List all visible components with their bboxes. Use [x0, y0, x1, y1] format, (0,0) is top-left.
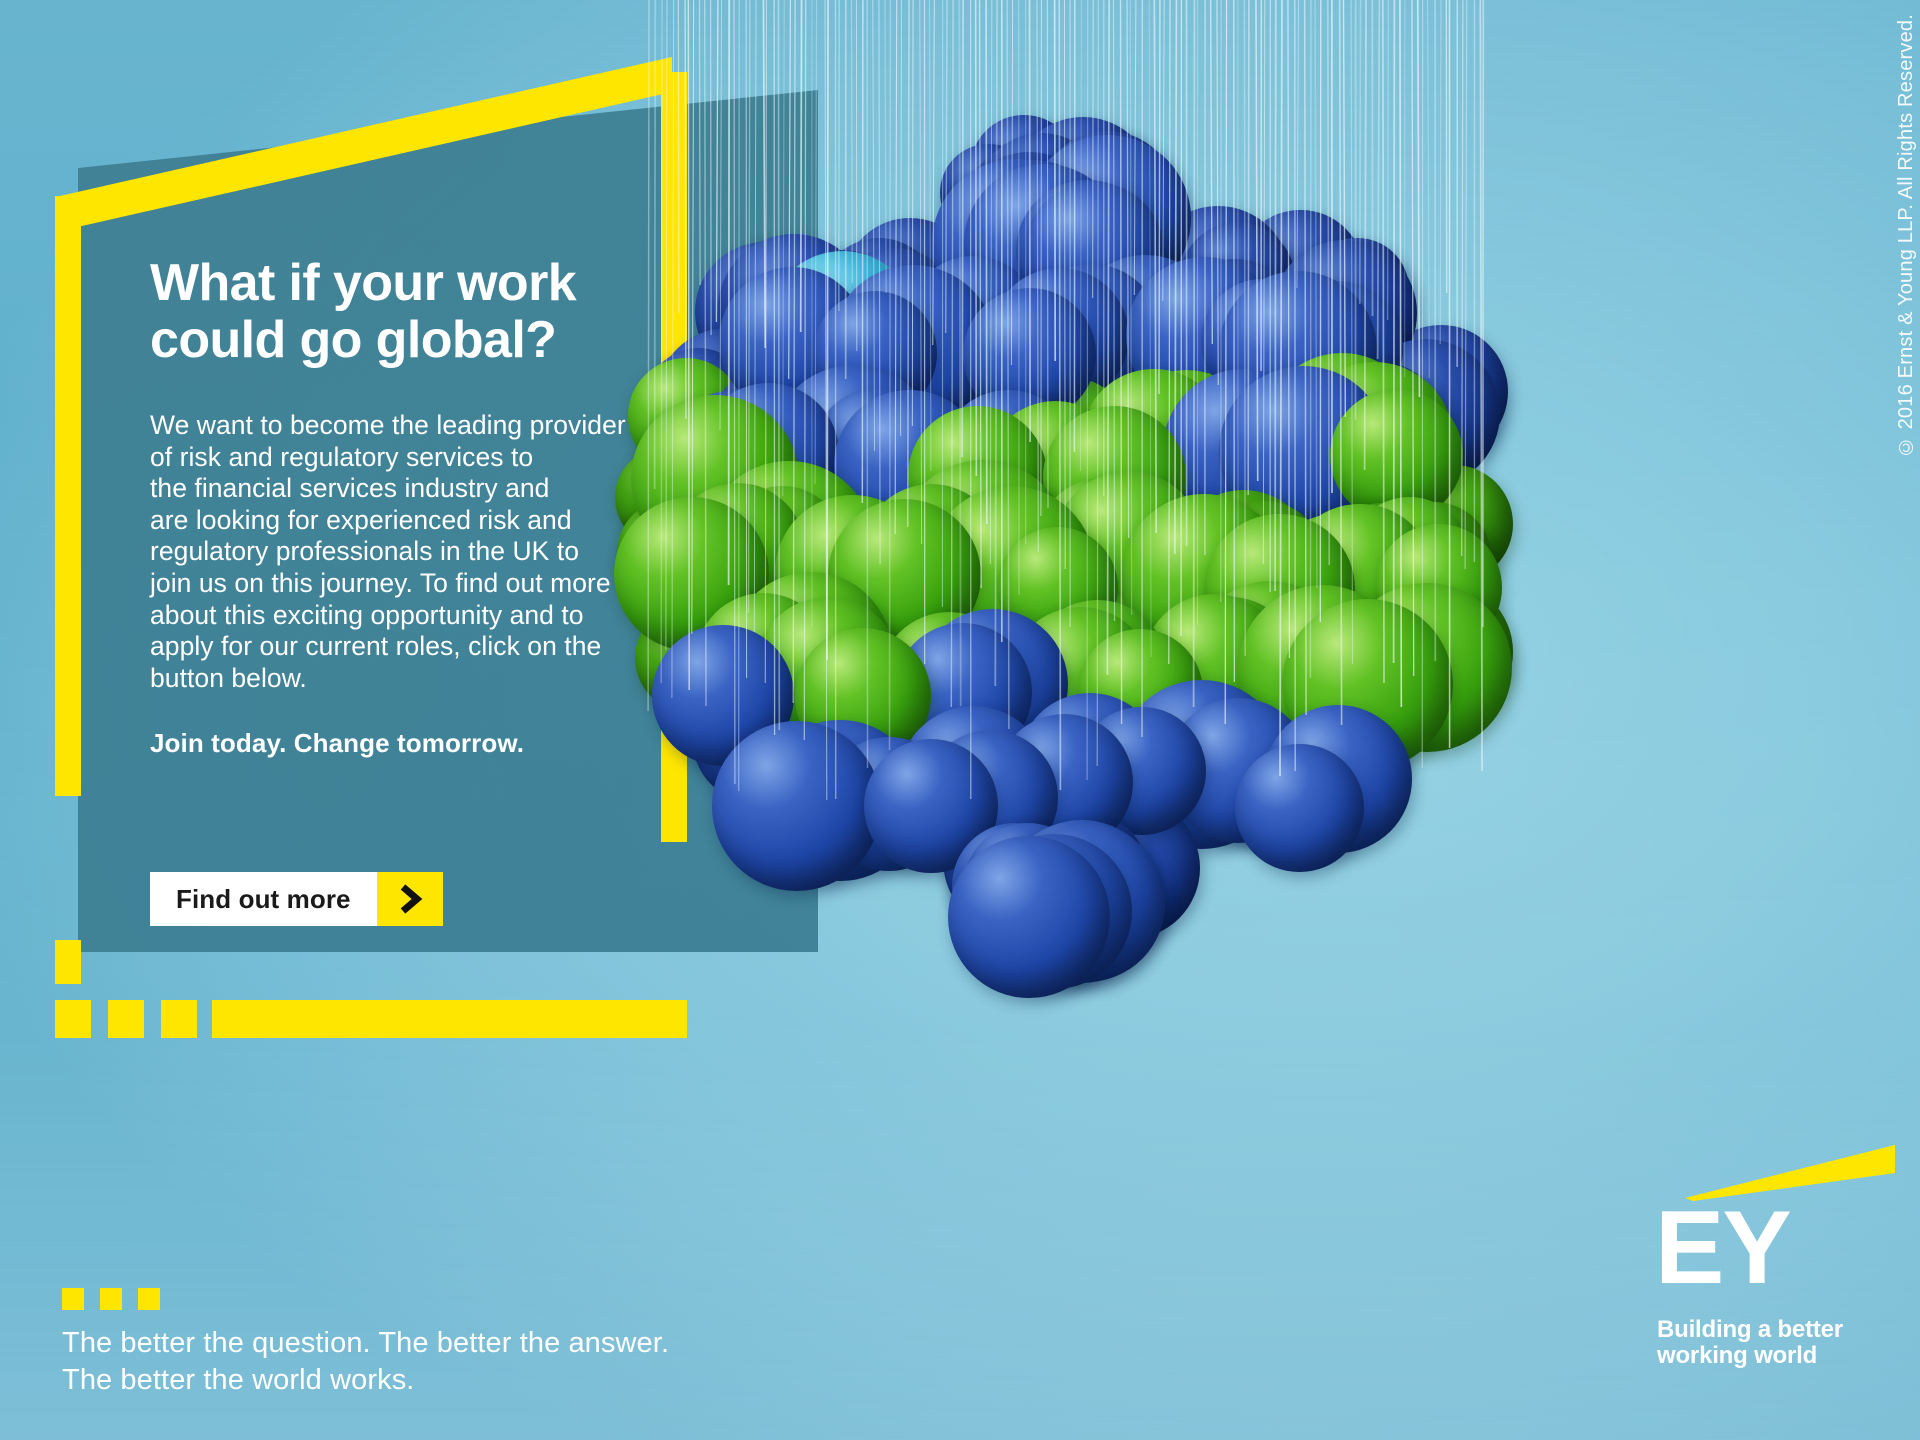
find-out-more-button[interactable]: Find out more [150, 872, 443, 926]
footer-block-1 [62, 1288, 84, 1310]
ey-logo-tagline: Building a better working world [1657, 1317, 1843, 1370]
footer-block-accents [62, 1288, 160, 1310]
find-out-more-label: Find out more [150, 872, 377, 926]
footer-block-3 [138, 1288, 160, 1310]
copyright-notice: © 2016 Ernst & Young LLP. All Rights Res… [1895, 14, 1918, 457]
ey-wordmark: EY [1655, 1201, 1790, 1297]
footer-block-2 [100, 1288, 122, 1310]
chevron-right-icon [377, 872, 443, 926]
footer-tagline: The better the question. The better the … [62, 1325, 669, 1399]
ey-logo: EY Building a better working world [1655, 1145, 1895, 1395]
hanging-sphere-cluster [560, 0, 1520, 1040]
suspension-strings-icon [560, 0, 1520, 980]
